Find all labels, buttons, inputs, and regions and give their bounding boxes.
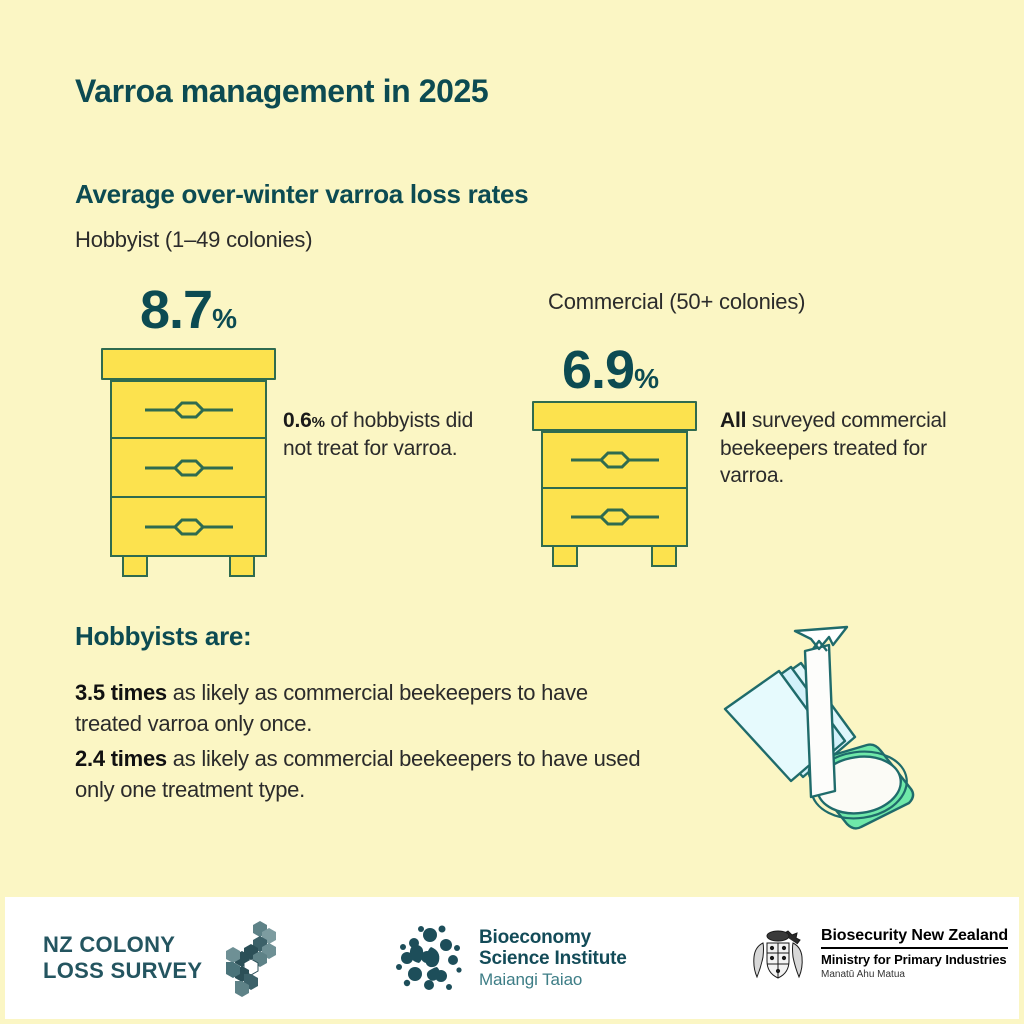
nzcls-line-1: NZ COLONY — [43, 932, 202, 958]
hive-leg — [229, 557, 255, 577]
commercial-label: Commercial (50+ colonies) — [548, 289, 805, 315]
logo-biosecurity-new-zealand: Biosecurity New Zealand Ministry for Pri… — [747, 927, 1008, 985]
mpi-line-2: Ministry for Primary Industries — [821, 952, 1008, 967]
logo-bioeconomy-science-institute: Bioeconomy Science Institute Maiangi Tai… — [393, 921, 627, 995]
logo-nz-colony-loss-survey: NZ COLONY LOSS SURVEY — [43, 919, 278, 997]
commercial-note-figure: All — [720, 409, 746, 432]
hobbyist-note: 0.6% of hobbyists did not treat for varr… — [283, 407, 483, 462]
hive-lid — [101, 348, 276, 380]
hive-legs — [541, 547, 688, 567]
hive-box — [541, 431, 688, 489]
hive-handle-icon — [565, 505, 665, 529]
infographic-canvas: Varroa management in 2025 Average over-w… — [5, 5, 1019, 1019]
hive-handle-icon — [139, 456, 239, 480]
bsi-line-2: Science Institute — [479, 948, 627, 969]
hive-leg — [552, 547, 578, 567]
hive-box — [541, 489, 688, 547]
percent-sign: % — [212, 303, 236, 334]
mpi-line-1: Biosecurity New Zealand — [821, 927, 1008, 949]
hive-box — [110, 439, 267, 498]
comparison-fact: 3.5 times as likely as commercial beekee… — [75, 677, 655, 739]
commercial-loss-value: 6.9 — [562, 340, 634, 400]
dot-cluster-icon — [393, 921, 467, 995]
hive-lid — [532, 401, 697, 431]
mpi-line-3: Manatū Ahu Matua — [821, 969, 1008, 980]
hive-legs — [110, 557, 267, 577]
nzcls-wordmark: NZ COLONY LOSS SURVEY — [43, 932, 202, 985]
hobbyist-note-figure: 0.6 — [283, 409, 312, 432]
hobbyist-loss-percentage: 8.7% — [140, 283, 236, 337]
page-title: Varroa management in 2025 — [75, 73, 488, 110]
comparison-fact-figure: 3.5 times — [75, 680, 167, 705]
hive-leg — [122, 557, 148, 577]
hexagon-checkmark-icon — [216, 919, 278, 997]
commercial-loss-percentage: 6.9% — [562, 343, 658, 397]
hive-tool-illustration — [695, 605, 945, 855]
hobbyist-loss-value: 8.7 — [140, 280, 212, 340]
bsi-line-1: Bioeconomy — [479, 927, 627, 948]
comparison-fact: 2.4 times as likely as commercial beekee… — [75, 743, 655, 805]
percent-sign: % — [634, 363, 658, 394]
commercial-note: All surveyed commercial beekeepers treat… — [720, 407, 980, 490]
hive-handle-icon — [565, 448, 665, 472]
comparison-fact-figure: 2.4 times — [75, 746, 167, 771]
bsi-line-3: Maiangi Taiao — [479, 970, 627, 989]
hive-handle-icon — [139, 515, 239, 539]
comparison-heading: Hobbyists are: — [75, 621, 251, 652]
commercial-hive-illustration — [532, 401, 697, 567]
hive-box — [110, 380, 267, 439]
hive-leg — [651, 547, 677, 567]
hobbyist-note-unit: % — [312, 414, 325, 431]
infographic-page: Varroa management in 2025 Average over-w… — [0, 0, 1024, 1024]
section-heading-loss-rates: Average over-winter varroa loss rates — [75, 179, 528, 210]
footer: NZ COLONY LOSS SURVEY — [5, 897, 1019, 1019]
hobbyist-hive-illustration — [101, 348, 276, 577]
hobbyist-label: Hobbyist (1–49 colonies) — [75, 227, 312, 253]
commercial-note-text: surveyed commercial beekeepers treated f… — [720, 409, 946, 487]
nzcls-line-2: LOSS SURVEY — [43, 958, 202, 984]
hive-box — [110, 498, 267, 557]
nz-coat-of-arms-icon — [747, 927, 809, 985]
hive-handle-icon — [139, 398, 239, 422]
